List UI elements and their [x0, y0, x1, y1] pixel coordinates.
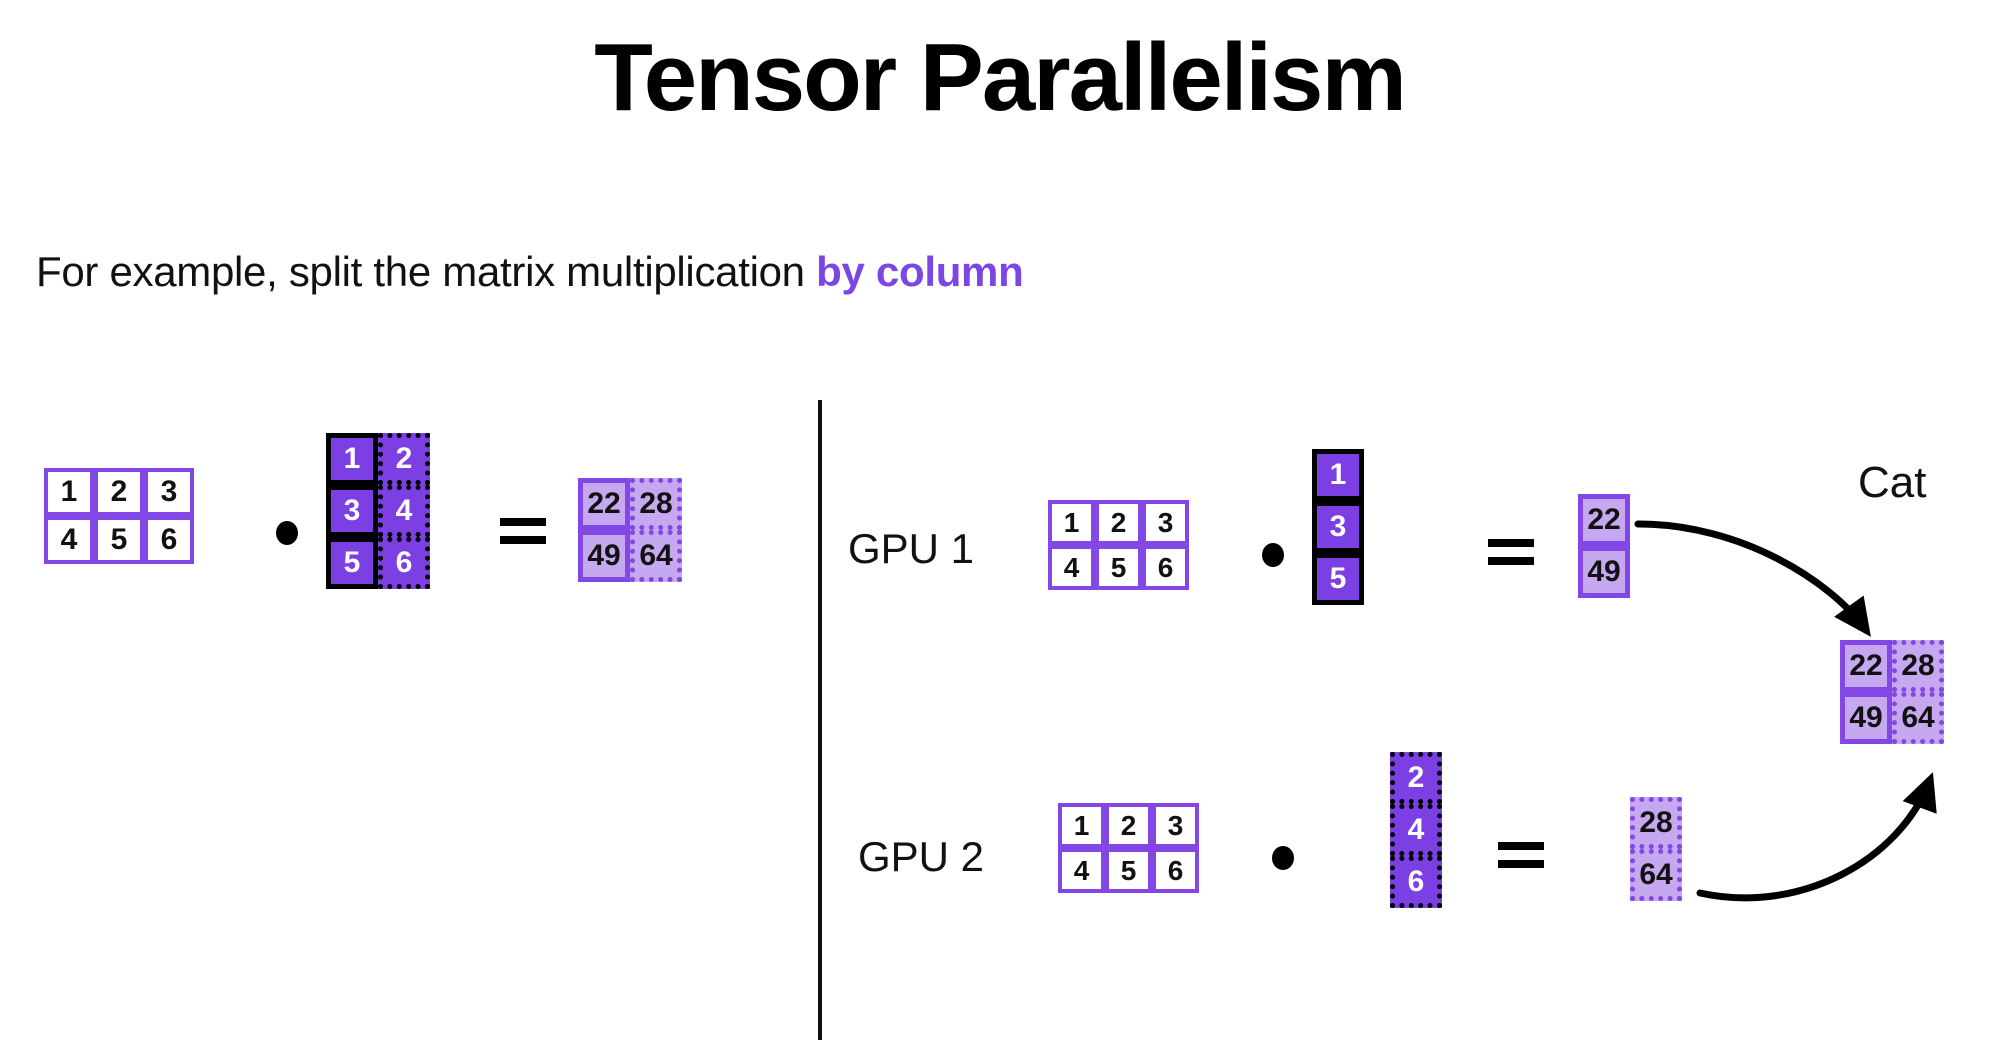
- gpu1-label: GPU 1: [848, 525, 974, 573]
- table-row: 4 5 6: [1058, 848, 1199, 893]
- matrix-cell-partition-2: 2: [378, 433, 430, 485]
- table-row: 1 2 3: [44, 468, 194, 516]
- matrix-cell: 1: [1048, 500, 1095, 545]
- cat-result-matrix: 22 28 49 64: [1840, 640, 1944, 744]
- vector-cell: 3: [1312, 501, 1364, 553]
- matrix-cell: 6: [144, 516, 194, 564]
- result-cell: 64: [1630, 849, 1682, 901]
- matrix-cell: 2: [1105, 803, 1152, 848]
- matrix-cell: 2: [94, 468, 144, 516]
- matrix-cell: 6: [1142, 545, 1189, 590]
- matrix-cell: 3: [1152, 803, 1199, 848]
- table-row: 5 6: [326, 537, 430, 589]
- matrix-cell: 4: [1058, 848, 1105, 893]
- matrix-cell-partition-1: 1: [326, 433, 378, 485]
- table-row: 1 2: [326, 433, 430, 485]
- matrix-cell-partition-2: 6: [378, 537, 430, 589]
- equals-operator-icon: [1498, 842, 1544, 872]
- table-row: 1 2 3: [1058, 803, 1199, 848]
- equals-operator-icon: [500, 518, 546, 548]
- result-cell-partition-1: 22: [578, 478, 630, 530]
- matrix-cell-partition-1: 3: [326, 485, 378, 537]
- left-result-matrix: 22 28 49 64: [578, 478, 682, 582]
- table-row: 4 5 6: [1048, 545, 1189, 590]
- matrix-cell: 4: [1048, 545, 1095, 590]
- gpu2-matrix-a: 1 2 3 4 5 6: [1058, 803, 1199, 893]
- gpu1-result-vector: 22 49: [1578, 494, 1630, 598]
- result-cell-partition-2: 28: [630, 478, 682, 530]
- matrix-cell: 3: [1142, 500, 1189, 545]
- subtitle: For example, split the matrix multiplica…: [36, 248, 1023, 296]
- result-cell-partition-1: 49: [578, 530, 630, 582]
- table-row: 1 2 3: [1048, 500, 1189, 545]
- arrow-gpu1-to-cat: [1638, 524, 1866, 630]
- matrix-cell: 3: [144, 468, 194, 516]
- table-row: 22 28: [1840, 640, 1944, 692]
- dot-operator-icon: [1262, 543, 1284, 567]
- gpu2-vector-b: 2 4 6: [1390, 752, 1442, 908]
- table-row: 49 64: [578, 530, 682, 582]
- gpu2-label: GPU 2: [858, 833, 984, 881]
- vector-cell: 4: [1390, 804, 1442, 856]
- result-cell-partition-2: 28: [1892, 640, 1944, 692]
- cat-label: Cat: [1858, 458, 1926, 508]
- vector-cell: 1: [1312, 449, 1364, 501]
- dot-operator-icon: [1272, 846, 1294, 870]
- vector-cell: 2: [1390, 752, 1442, 804]
- dot-operator-icon: [276, 521, 298, 545]
- matrix-cell: 5: [1105, 848, 1152, 893]
- left-matrix-a: 1 2 3 4 5 6: [44, 468, 194, 564]
- subtitle-plain-text: For example, split the matrix multiplica…: [36, 248, 816, 295]
- matrix-cell: 6: [1152, 848, 1199, 893]
- result-cell: 28: [1630, 797, 1682, 849]
- arrow-gpu2-to-cat: [1700, 780, 1930, 898]
- vector-cell: 6: [1390, 856, 1442, 908]
- result-cell-partition-1: 22: [1840, 640, 1892, 692]
- table-row: 4 5 6: [44, 516, 194, 564]
- table-row: 22 28: [578, 478, 682, 530]
- left-matrix-b: 1 2 3 4 5 6: [326, 433, 430, 589]
- result-cell-partition-1: 49: [1840, 692, 1892, 744]
- matrix-cell: 1: [1058, 803, 1105, 848]
- subtitle-accent-text: by column: [816, 248, 1023, 295]
- slide-canvas: Tensor Parallelism For example, split th…: [0, 0, 1999, 1064]
- matrix-cell: 5: [1095, 545, 1142, 590]
- result-cell: 22: [1578, 494, 1630, 546]
- gpu1-matrix-a: 1 2 3 4 5 6: [1048, 500, 1189, 590]
- vector-cell: 5: [1312, 553, 1364, 605]
- result-cell-partition-2: 64: [630, 530, 682, 582]
- result-cell-partition-2: 64: [1892, 692, 1944, 744]
- panel-divider: [818, 400, 822, 1040]
- equals-operator-icon: [1488, 539, 1534, 569]
- matrix-cell: 1: [44, 468, 94, 516]
- gpu1-vector-b: 1 3 5: [1312, 449, 1364, 605]
- matrix-cell-partition-1: 5: [326, 537, 378, 589]
- page-title: Tensor Parallelism: [0, 28, 1999, 129]
- matrix-cell: 5: [94, 516, 144, 564]
- matrix-cell: 4: [44, 516, 94, 564]
- result-cell: 49: [1578, 546, 1630, 598]
- gpu2-result-vector: 28 64: [1630, 797, 1682, 901]
- table-row: 3 4: [326, 485, 430, 537]
- table-row: 49 64: [1840, 692, 1944, 744]
- arrow-layer: [0, 0, 1999, 1064]
- matrix-cell: 2: [1095, 500, 1142, 545]
- matrix-cell-partition-2: 4: [378, 485, 430, 537]
